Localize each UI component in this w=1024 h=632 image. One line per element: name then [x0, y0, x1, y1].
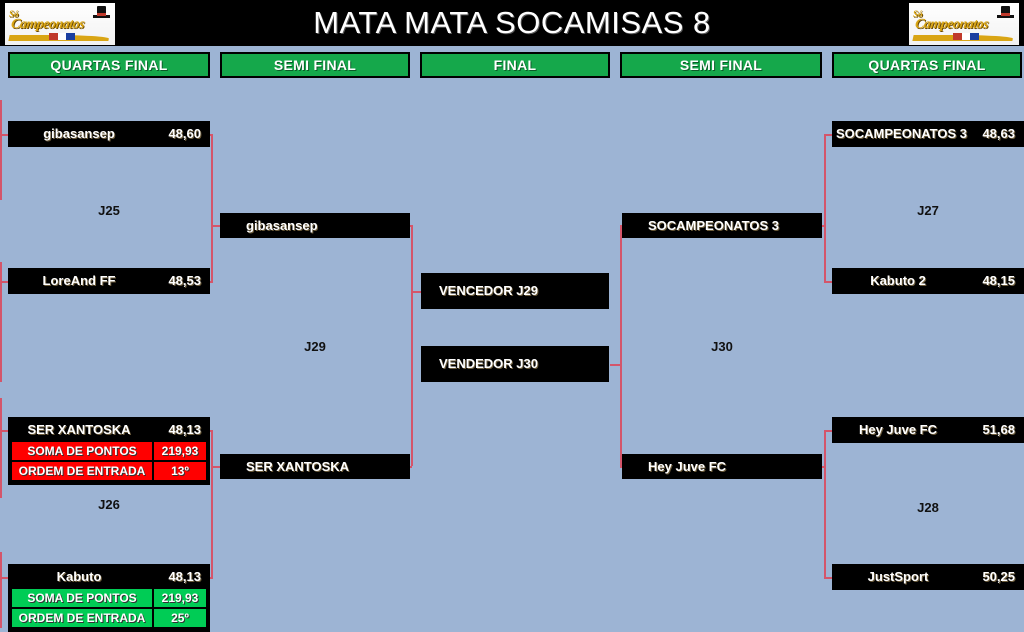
connector-j28-bottom: [824, 577, 832, 579]
team-name: Kabuto 2: [832, 268, 964, 294]
team-name: Hey Juve FC: [648, 454, 726, 479]
logo-right: Só Campeonatos: [908, 2, 1020, 46]
round-tab-final[interactable]: FINAL: [420, 52, 610, 78]
tiebreak-label: ORDEM DE ENTRADA: [12, 609, 152, 627]
bracket-slot-final-2[interactable]: VENDEDOR J30: [421, 346, 609, 382]
team-score: 48,13: [149, 564, 201, 590]
tiebreak-row-soma-de-pontos-red: SOMA DE PONTOS 219,93: [12, 442, 206, 460]
team-score: 48,60: [149, 121, 201, 147]
bracket-slot-quarter-right-4[interactable]: JustSport 50,25: [832, 564, 1024, 590]
team-name: SER XANTOSKA: [246, 454, 349, 479]
tiebreak-label: SOMA DE PONTOS: [12, 589, 152, 607]
flag-icon: [953, 33, 979, 40]
team-name: SER XANTOSKA: [8, 417, 150, 443]
match-code-j28: J28: [832, 500, 1024, 515]
bracket-slot-quarter-left-4[interactable]: Kabuto 48,13: [8, 564, 210, 590]
bracket-slot-semi-right-2[interactable]: Hey Juve FC: [622, 454, 822, 479]
bracket-slot-quarter-left-2[interactable]: LoreAnd FF 48,53: [8, 268, 210, 294]
connector-q3-edge: [0, 398, 2, 498]
bracket-slot-quarter-right-2[interactable]: Kabuto 2 48,15: [832, 268, 1024, 294]
team-score: 48,63: [963, 121, 1015, 147]
bracket-slot-quarter-right-3[interactable]: Hey Juve FC 51,68: [832, 417, 1024, 443]
connector-j25-out: [211, 225, 220, 227]
bracket-slot-quarter-left-3-group[interactable]: SER XANTOSKA 48,13 SOMA DE PONTOS 219,93…: [8, 417, 210, 485]
team-name: JustSport: [832, 564, 964, 590]
connector-j27-bottom: [824, 281, 832, 283]
team-name: SOCAMPEONATOS 3: [648, 213, 779, 238]
final-slot-label: VENCEDOR J29: [439, 273, 538, 309]
match-code-j27: J27: [832, 203, 1024, 218]
team-score: 48,53: [149, 268, 201, 294]
bracket-slot-quarter-left-3[interactable]: SER XANTOSKA 48,13: [8, 417, 210, 443]
match-code-j25: J25: [8, 203, 210, 218]
connector-j27-top: [824, 134, 832, 136]
final-slot-label: VENDEDOR J30: [439, 346, 538, 382]
team-name: SOCAMPEONATOS 3: [836, 121, 964, 147]
team-name: gibasansep: [246, 213, 318, 238]
bracket-slot-semi-left-2[interactable]: SER XANTOSKA: [220, 454, 410, 479]
team-score: 48,15: [963, 268, 1015, 294]
round-tab-semi-final-left[interactable]: SEMI FINAL: [220, 52, 410, 78]
connector-j30-out: [610, 364, 620, 366]
team-score: 48,13: [149, 417, 201, 443]
bracket-slot-semi-left-1[interactable]: gibasansep: [220, 213, 410, 238]
connector-j25-vertical: [211, 134, 213, 282]
connector-j27-vertical: [824, 134, 826, 282]
page-title: MATA MATA SOCAMISAS 8: [0, 0, 1024, 46]
match-code-j30: J30: [622, 339, 822, 354]
tiebreak-row-ordem-de-entrada-green: ORDEM DE ENTRADA 25º: [12, 609, 206, 627]
logo-right-wordmark: Campeonatos: [914, 15, 1009, 35]
tiebreak-value: 219,93: [154, 442, 206, 460]
match-code-j29: J29: [220, 339, 410, 354]
team-score: 51,68: [963, 417, 1015, 443]
bracket-slot-final-1[interactable]: VENCEDOR J29: [421, 273, 609, 309]
bracket-slot-quarter-left-1[interactable]: gibasansep 48,60: [8, 121, 210, 147]
connector-j26-out: [211, 466, 220, 468]
connector-j28-top: [824, 430, 832, 432]
connector-j29-out: [411, 291, 421, 293]
connector-j29-vertical: [411, 225, 413, 466]
connector-q4-edge: [0, 552, 2, 628]
tiebreak-value: 25º: [154, 609, 206, 627]
round-tab-quartas-final-left[interactable]: QUARTAS FINAL: [8, 52, 210, 78]
connector-q2-edge: [0, 262, 2, 382]
logo-right-graphic: Só Campeonatos: [909, 3, 1019, 45]
team-name: LoreAnd FF: [8, 268, 150, 294]
match-code-j26: J26: [8, 497, 210, 512]
connector-j28-vertical: [824, 430, 826, 578]
team-name: Hey Juve FC: [832, 417, 964, 443]
top-hat-icon: [1001, 6, 1010, 18]
tiebreak-row-ordem-de-entrada-red: ORDEM DE ENTRADA 13º: [12, 462, 206, 480]
connector-q1-edge: [0, 100, 2, 200]
bracket-slot-quarter-right-1[interactable]: SOCAMPEONATOS 3 48,63: [832, 121, 1024, 147]
title-bar: Só Campeonatos MATA MATA SOCAMISAS 8 Só …: [0, 0, 1024, 46]
round-tab-quartas-final-right[interactable]: QUARTAS FINAL: [832, 52, 1022, 78]
team-score: 50,25: [963, 564, 1015, 590]
bracket-slot-quarter-left-4-group[interactable]: Kabuto 48,13 SOMA DE PONTOS 219,93 ORDEM…: [8, 564, 210, 632]
tiebreak-label: SOMA DE PONTOS: [12, 442, 152, 460]
round-tab-semi-final-right[interactable]: SEMI FINAL: [620, 52, 822, 78]
tiebreak-value: 219,93: [154, 589, 206, 607]
connector-j26-vertical: [211, 430, 213, 578]
tiebreak-label: ORDEM DE ENTRADA: [12, 462, 152, 480]
team-name: Kabuto: [8, 564, 150, 590]
tiebreak-row-soma-de-pontos-green: SOMA DE PONTOS 219,93: [12, 589, 206, 607]
team-name: gibasansep: [8, 121, 150, 147]
tiebreak-value: 13º: [154, 462, 206, 480]
bracket-slot-semi-right-1[interactable]: SOCAMPEONATOS 3: [622, 213, 822, 238]
top-hat-band-icon: [1001, 13, 1010, 16]
